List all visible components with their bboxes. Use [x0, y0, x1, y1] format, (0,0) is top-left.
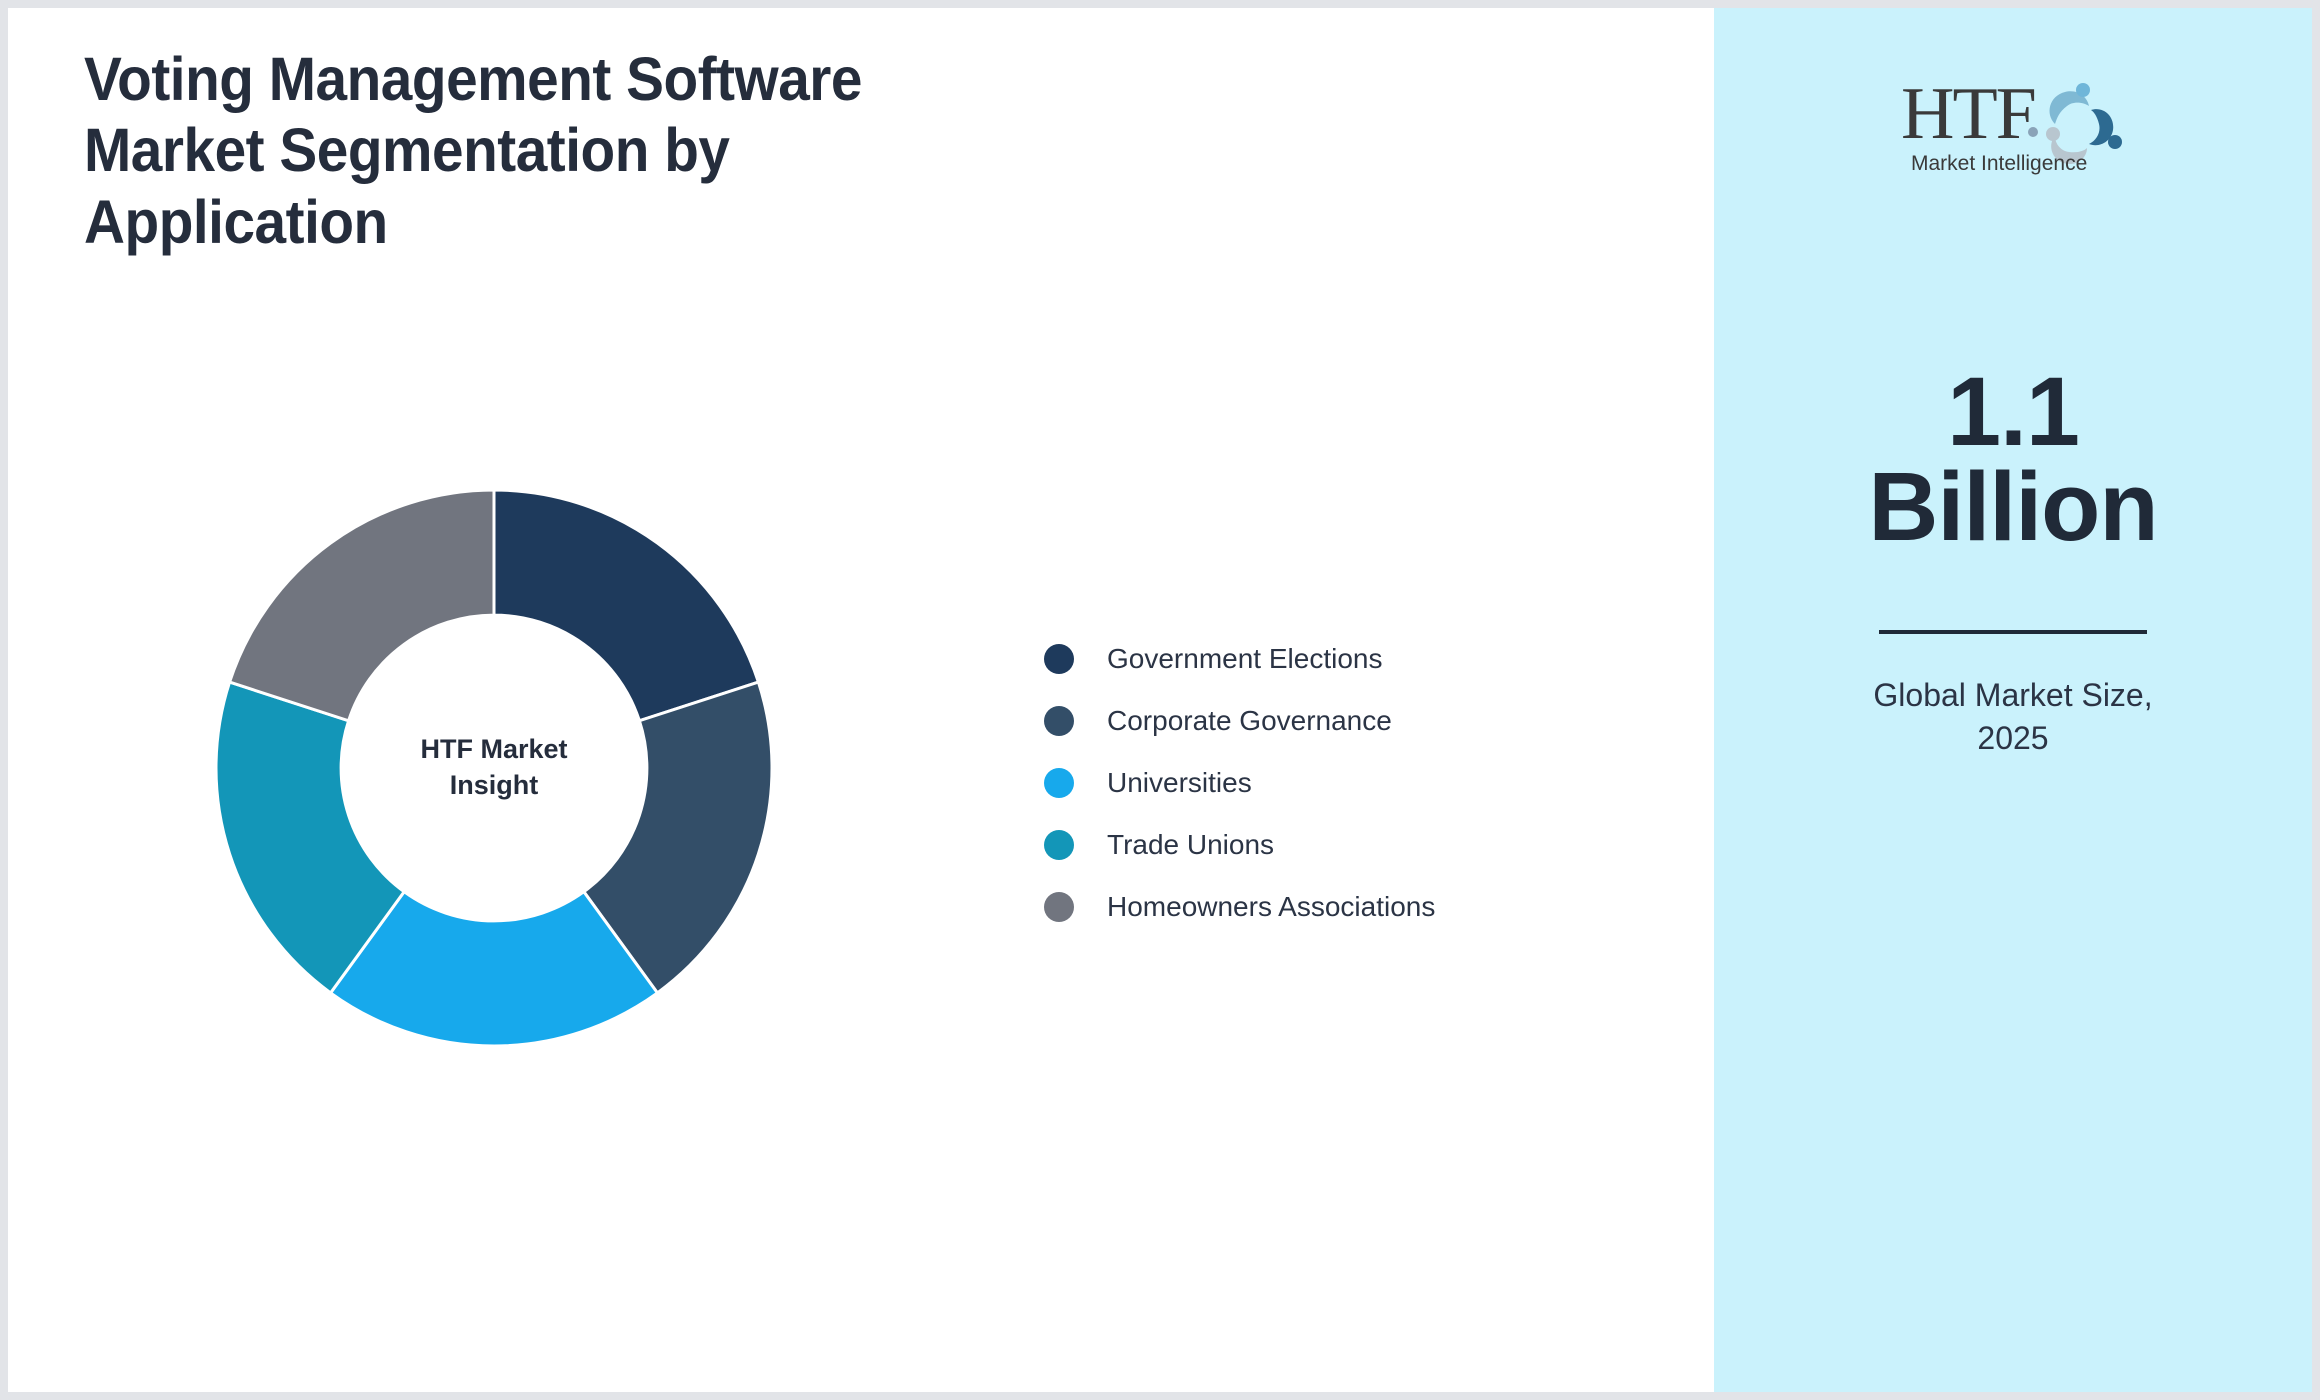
- donut-chart-svg: [204, 478, 784, 1058]
- donut-slice[interactable]: [494, 490, 758, 721]
- page-title: Voting Management Software Market Segmen…: [84, 44, 921, 258]
- legend-item-label: Trade Unions: [1107, 829, 1274, 861]
- legend-item-label: Universities: [1107, 767, 1252, 799]
- infographic-page: Voting Management Software Market Segmen…: [0, 0, 2320, 1400]
- stat-caption-line-2: 2025: [1773, 717, 2253, 760]
- chart-panel: Voting Management Software Market Segmen…: [8, 8, 1714, 1392]
- stat-block: 1.1 Billion Global Market Size, 2025: [1773, 364, 2253, 760]
- legend-item-label: Corporate Governance: [1107, 705, 1392, 737]
- legend-item-government-elections[interactable]: Government Elections: [1044, 628, 1435, 690]
- legend-swatch-icon: [1044, 830, 1074, 860]
- stat-value-line-1: 1.1: [1773, 364, 2253, 459]
- stat-value-line-2: Billion: [1773, 459, 2253, 554]
- logo-icon: HTF Market Intelligence: [1893, 66, 2133, 176]
- legend-item-homeowners-associations[interactable]: Homeowners Associations: [1044, 876, 1435, 938]
- legend-swatch-icon: [1044, 892, 1074, 922]
- legend-swatch-icon: [1044, 768, 1074, 798]
- divider-rule: [1879, 630, 2147, 634]
- donut-slice[interactable]: [230, 490, 494, 721]
- htf-market-intelligence-logo: HTF Market Intelligence: [1893, 66, 2133, 176]
- logo-tagline: Market Intelligence: [1911, 152, 2087, 175]
- legend-item-label: Government Elections: [1107, 643, 1382, 675]
- chart-legend: Government Elections Corporate Governanc…: [1044, 628, 1435, 938]
- legend-item-universities[interactable]: Universities: [1044, 752, 1435, 814]
- stat-caption-line-1: Global Market Size,: [1773, 674, 2253, 717]
- donut-chart: HTF Market Insight: [204, 478, 784, 1058]
- stat-caption: Global Market Size, 2025: [1773, 674, 2253, 760]
- legend-item-trade-unions[interactable]: Trade Unions: [1044, 814, 1435, 876]
- legend-swatch-icon: [1044, 644, 1074, 674]
- stat-panel: HTF Market Intelligence 1: [1714, 8, 2312, 1392]
- legend-item-label: Homeowners Associations: [1107, 891, 1435, 923]
- legend-swatch-icon: [1044, 706, 1074, 736]
- svg-text:HTF: HTF: [1901, 73, 2035, 155]
- legend-item-corporate-governance[interactable]: Corporate Governance: [1044, 690, 1435, 752]
- infographic-canvas: Voting Management Software Market Segmen…: [8, 8, 2312, 1392]
- stat-value: 1.1 Billion: [1773, 364, 2253, 554]
